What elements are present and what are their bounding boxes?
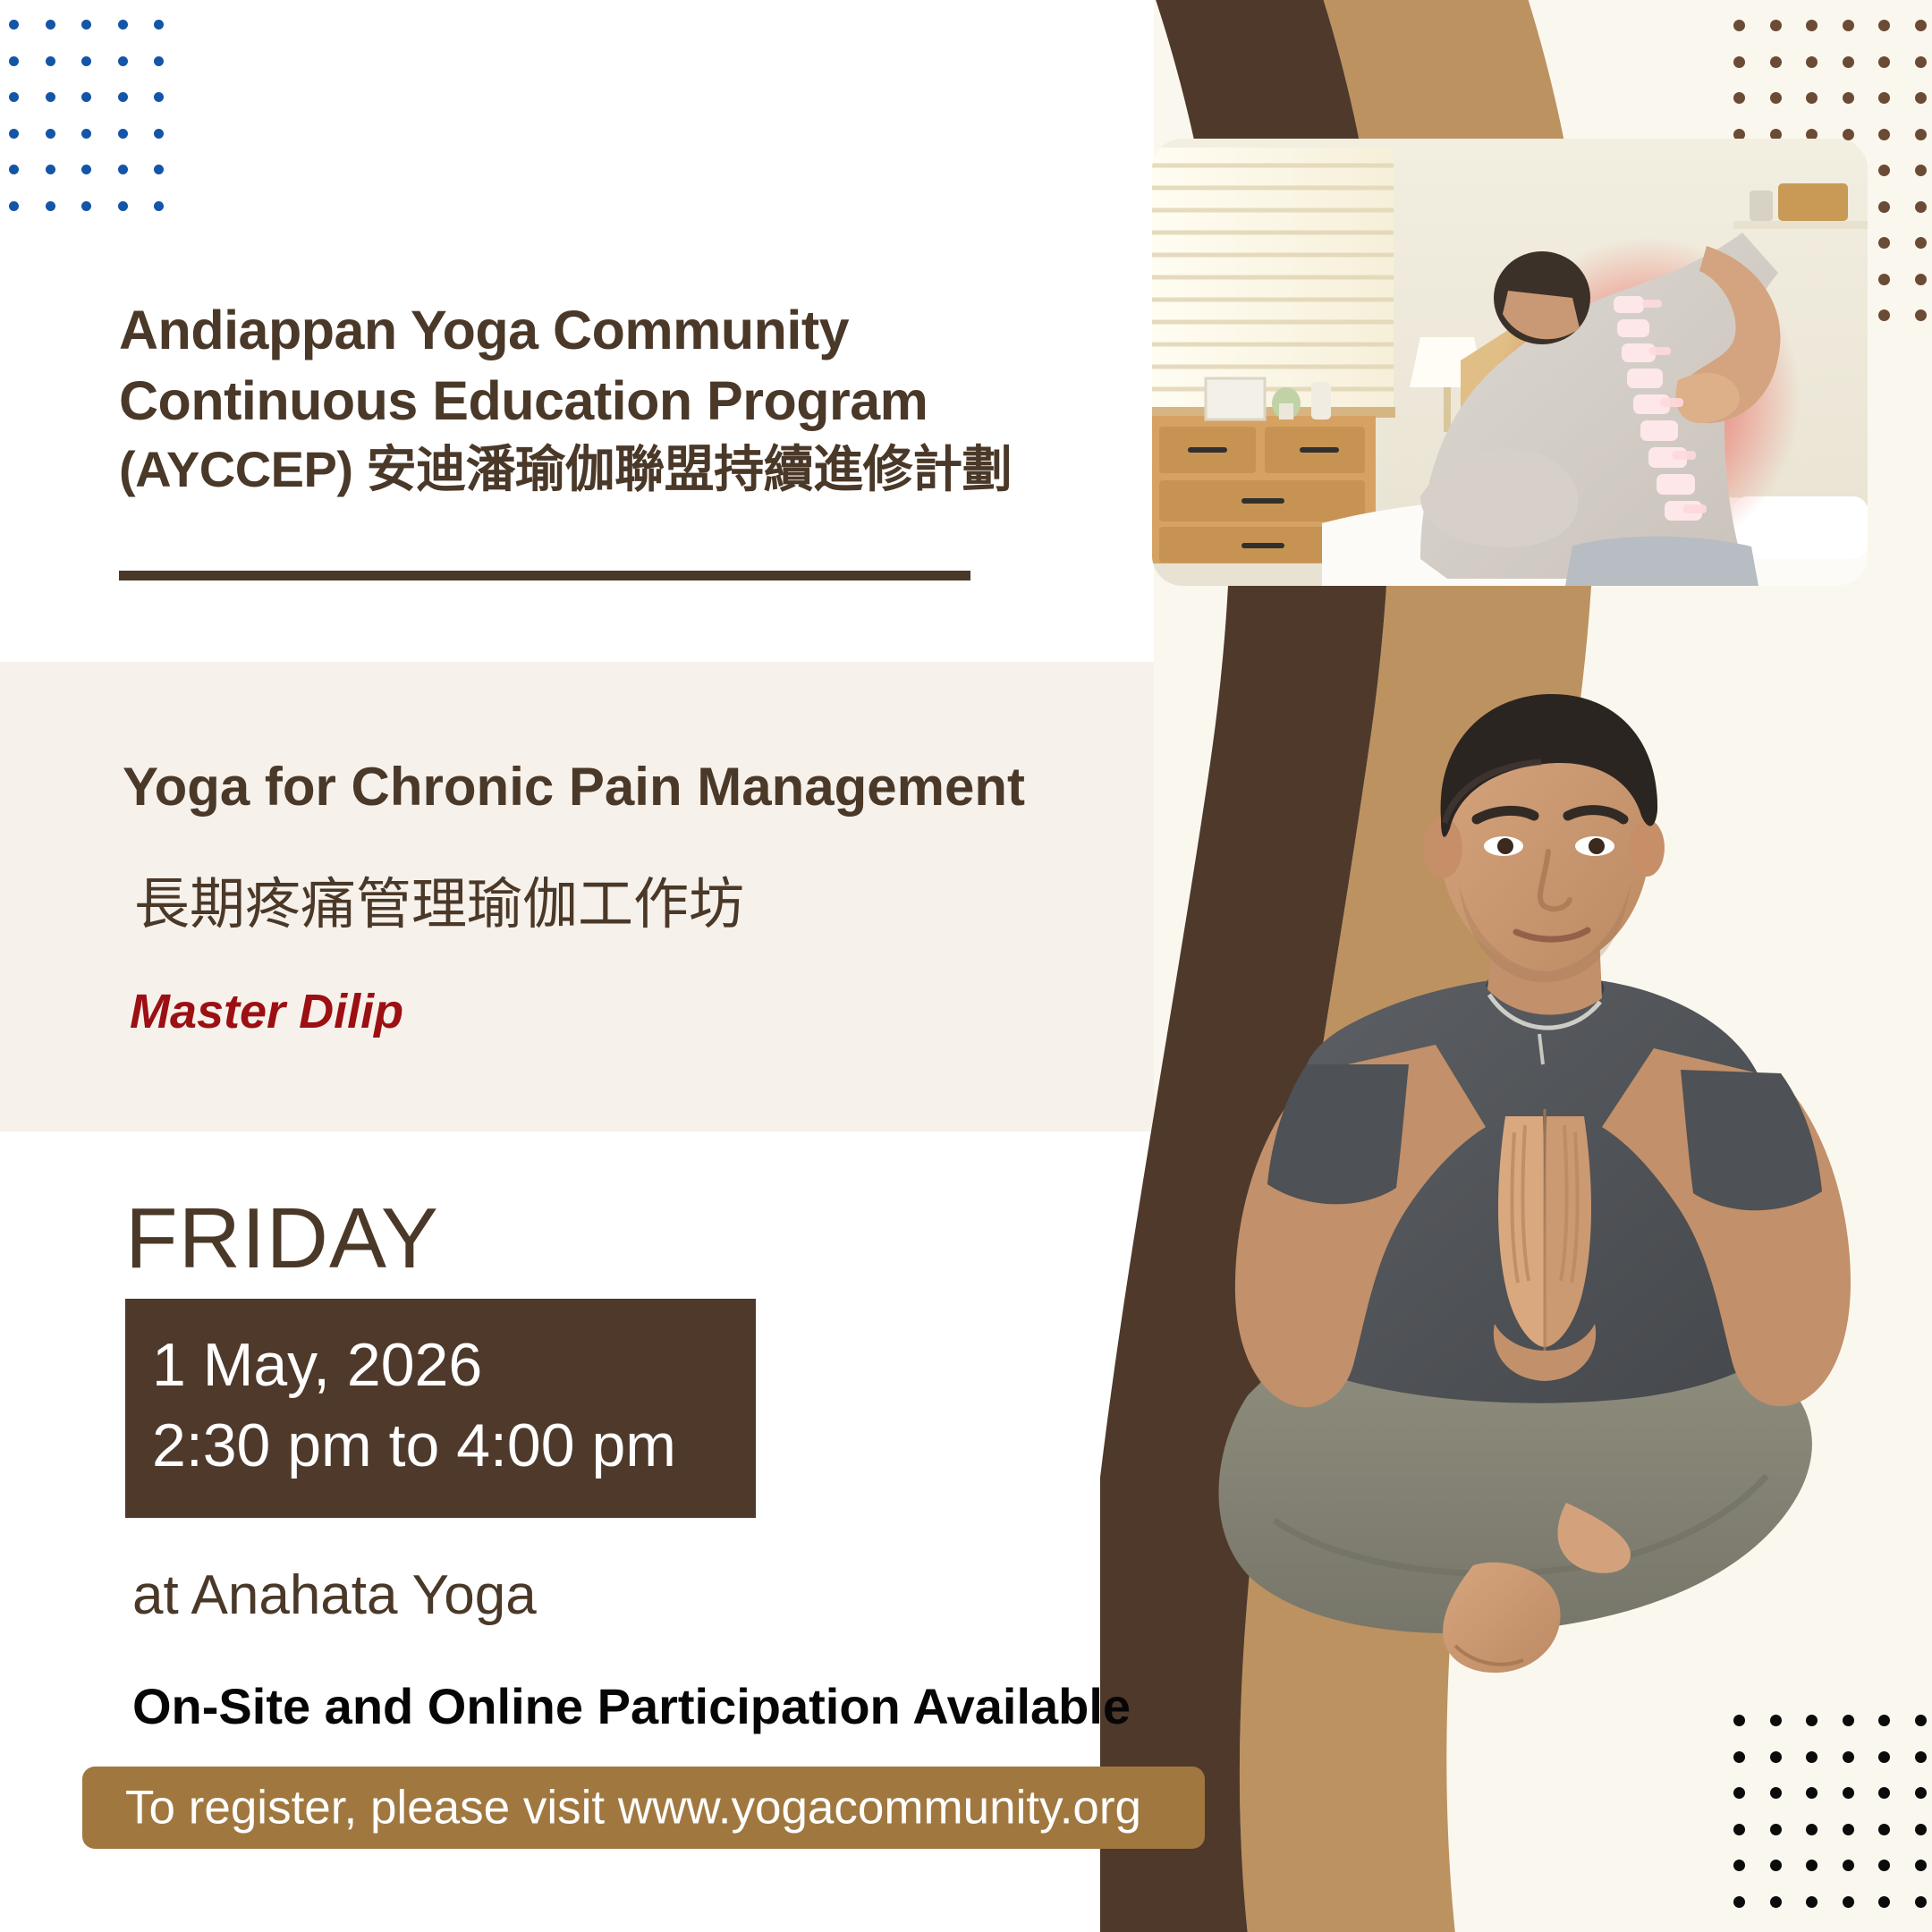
decorative-dot <box>1915 165 1927 176</box>
decorative-dot <box>1733 1896 1745 1908</box>
decorative-dot <box>118 56 128 66</box>
event-venue: at Anahata Yoga <box>132 1563 537 1627</box>
event-day: FRIDAY <box>125 1190 439 1288</box>
decorative-dot <box>1770 1824 1782 1835</box>
decorative-dot <box>9 20 19 30</box>
decorative-dot <box>46 20 55 30</box>
decorative-dot <box>1915 56 1927 68</box>
decorative-dot <box>9 92 19 102</box>
decorative-dot <box>46 92 55 102</box>
decorative-dot <box>1843 1860 1854 1871</box>
decorative-dot <box>118 165 128 174</box>
decorative-dot <box>1806 92 1818 104</box>
decorative-dot <box>1843 56 1854 68</box>
decorative-dot <box>1878 1860 1890 1871</box>
decorative-dot <box>154 129 164 139</box>
decorative-dot <box>1878 92 1890 104</box>
decorative-dot <box>1770 56 1782 68</box>
decorative-dot <box>1878 1787 1890 1799</box>
decorative-dot <box>1843 1751 1854 1763</box>
decorative-dot <box>1843 1896 1854 1908</box>
decorative-dot <box>1915 1860 1927 1871</box>
decorative-dot <box>1770 1896 1782 1908</box>
decorative-dot <box>1915 237 1927 249</box>
decorative-dot <box>1915 92 1927 104</box>
chronic-pain-photo <box>1152 139 1868 586</box>
decorative-dot <box>1915 1824 1927 1835</box>
presenter-name: Master Dilip <box>130 984 403 1039</box>
decorative-dot <box>9 165 19 174</box>
decorative-dot <box>1733 56 1745 68</box>
decorative-dot <box>1915 20 1927 31</box>
decorative-dot <box>1878 165 1890 176</box>
event-datetime-box: 1 May, 2026 2:30 pm to 4:00 pm <box>125 1299 756 1518</box>
decorative-dot <box>1915 309 1927 321</box>
decorative-dot <box>1770 92 1782 104</box>
decorative-dot <box>154 92 164 102</box>
decorative-dot <box>1770 20 1782 31</box>
poster-canvas: Andiappan Yoga Community Continuous Educ… <box>0 0 1932 1932</box>
org-title-line2: Continuous Education Program <box>119 366 1121 436</box>
decorative-dot <box>154 56 164 66</box>
decorative-dot <box>1806 1896 1818 1908</box>
decorative-dot <box>1878 237 1890 249</box>
decorative-dot <box>1878 129 1890 140</box>
decorative-dot <box>1806 1824 1818 1835</box>
master-dilip-photo <box>1140 644 1919 1717</box>
decorative-dot <box>1806 1751 1818 1763</box>
decorative-dot <box>9 201 19 211</box>
decorative-dot <box>1915 201 1927 213</box>
decorative-dot <box>1878 309 1890 321</box>
decorative-dot <box>81 165 91 174</box>
decorative-dot <box>1878 274 1890 285</box>
decorative-dot <box>1843 129 1854 140</box>
decorative-dot <box>1878 56 1890 68</box>
org-title-line3: (AYCCEP) 安迪潘瑜伽聯盟持續進修計劃 <box>119 437 1121 503</box>
event-time: 2:30 pm to 4:00 pm <box>152 1406 756 1487</box>
organization-header: Andiappan Yoga Community Continuous Educ… <box>119 295 1121 502</box>
decorative-dot <box>1915 274 1927 285</box>
decorative-dot <box>1843 20 1854 31</box>
decorative-dot <box>1915 1751 1927 1763</box>
decorative-dot <box>81 129 91 139</box>
decorative-dot <box>81 20 91 30</box>
dot-grid-bottom-right <box>1726 1695 1932 1932</box>
decorative-dot <box>81 201 91 211</box>
decorative-dot <box>118 92 128 102</box>
workshop-title-en: Yoga for Chronic Pain Management <box>123 756 1151 818</box>
decorative-dot <box>1878 1896 1890 1908</box>
decorative-dot <box>81 56 91 66</box>
decorative-dot <box>1843 1787 1854 1799</box>
decorative-dot <box>9 129 19 139</box>
decorative-dot <box>1733 1787 1745 1799</box>
decorative-dot <box>1806 56 1818 68</box>
decorative-dot <box>118 20 128 30</box>
decorative-dot <box>46 56 55 66</box>
decorative-dot <box>154 201 164 211</box>
decorative-dot <box>1733 20 1745 31</box>
decorative-dot <box>118 201 128 211</box>
decorative-dot <box>81 92 91 102</box>
registration-bar[interactable]: To register, please visit www.yogacommun… <box>82 1767 1205 1849</box>
decorative-dot <box>1733 1860 1745 1871</box>
decorative-dot <box>1770 1860 1782 1871</box>
decorative-dot <box>1878 201 1890 213</box>
decorative-dot <box>1806 20 1818 31</box>
decorative-dot <box>1733 92 1745 104</box>
decorative-dot <box>1878 1751 1890 1763</box>
decorative-dot <box>1806 1787 1818 1799</box>
decorative-dot <box>1733 1824 1745 1835</box>
decorative-dot <box>46 201 55 211</box>
decorative-dot <box>46 165 55 174</box>
decorative-dot <box>154 165 164 174</box>
decorative-dot <box>1770 1787 1782 1799</box>
decorative-dot <box>118 129 128 139</box>
decorative-dot <box>1878 20 1890 31</box>
decorative-dot <box>1915 1896 1927 1908</box>
header-divider-rule <box>119 571 970 580</box>
decorative-dot <box>1915 129 1927 140</box>
registration-text: To register, please visit www.yogacommun… <box>125 1781 1141 1835</box>
decorative-dot <box>1770 1751 1782 1763</box>
dot-grid-top-left <box>0 0 197 206</box>
event-date: 1 May, 2026 <box>152 1326 756 1406</box>
decorative-dot <box>1733 1751 1745 1763</box>
decorative-dot <box>46 129 55 139</box>
org-title-line1: Andiappan Yoga Community <box>119 295 1121 366</box>
decorative-dot <box>1915 1787 1927 1799</box>
decorative-dot <box>154 20 164 30</box>
decorative-dot <box>1806 1860 1818 1871</box>
decorative-dot <box>9 56 19 66</box>
workshop-title-zh: 長期疼痛管理瑜伽工作坊 <box>134 859 744 939</box>
decorative-dot <box>1878 1824 1890 1835</box>
participation-note: On-Site and Online Participation Availab… <box>132 1677 1131 1735</box>
decorative-dot <box>1843 1824 1854 1835</box>
decorative-dot <box>1843 92 1854 104</box>
